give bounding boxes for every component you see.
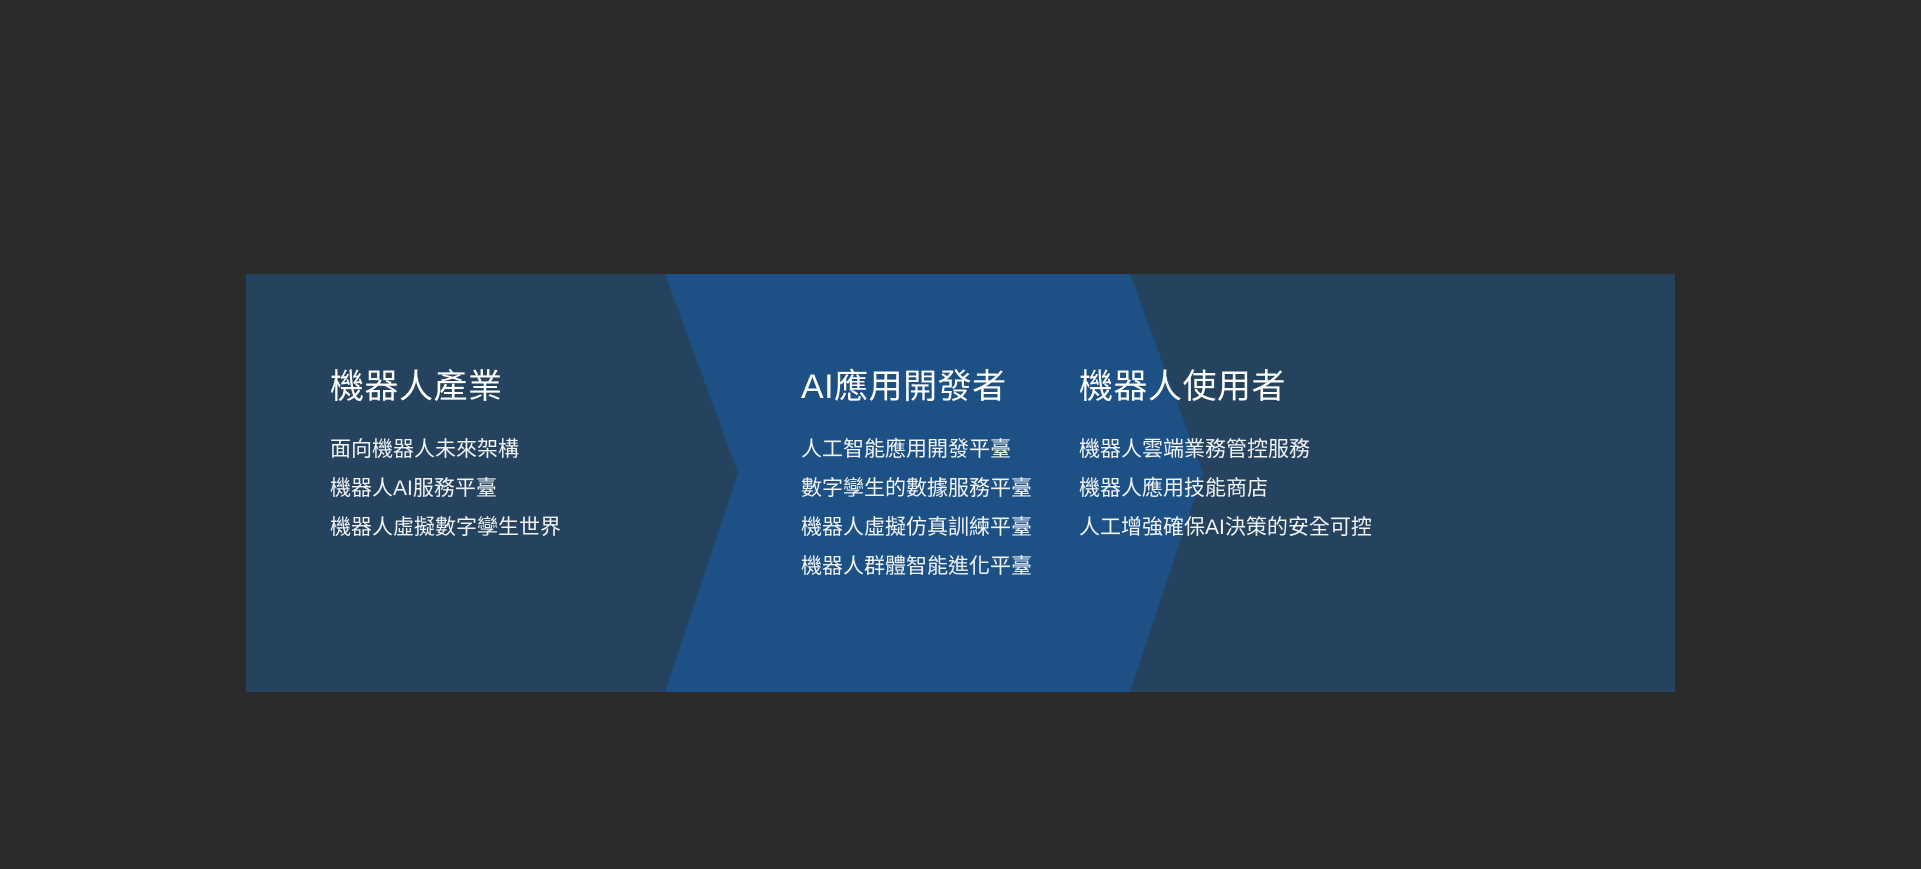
- list-item: 機器人虛擬仿真訓練平臺: [801, 512, 1032, 544]
- list-item: 數字孿生的數據服務平臺: [801, 473, 1032, 505]
- column-item-list: 面向機器人未來架構 機器人AI服務平臺 機器人虛擬數字孿生世界: [330, 434, 561, 544]
- list-item: 機器人AI服務平臺: [330, 473, 561, 505]
- column-group: 機器人產業 面向機器人未來架構 機器人AI服務平臺 機器人虛擬數字孿生世界 AI…: [246, 274, 1675, 692]
- list-item: 面向機器人未來架構: [330, 434, 561, 466]
- list-item: 機器人雲端業務管控服務: [1079, 434, 1372, 466]
- column-heading: 機器人使用者: [1079, 370, 1286, 404]
- list-item: 機器人應用技能商店: [1079, 473, 1372, 505]
- list-item: 人工增強確保AI決策的安全可控: [1079, 512, 1372, 544]
- column-heading: AI應用開發者: [801, 370, 1007, 404]
- column-item-list: 人工智能應用開發平臺 數字孿生的數據服務平臺 機器人虛擬仿真訓練平臺 機器人群體…: [801, 434, 1032, 583]
- column-robot-user: 機器人使用者 機器人雲端業務管控服務 機器人應用技能商店 人工增強確保AI決策的…: [1079, 274, 1459, 692]
- column-heading: 機器人產業: [330, 370, 503, 404]
- column-robot-industry: 機器人產業 面向機器人未來架構 機器人AI服務平臺 機器人虛擬數字孿生世界: [330, 274, 660, 692]
- list-item: 機器人虛擬數字孿生世界: [330, 512, 561, 544]
- column-item-list: 機器人雲端業務管控服務 機器人應用技能商店 人工增強確保AI決策的安全可控: [1079, 434, 1372, 544]
- chevron-banner: 機器人產業 面向機器人未來架構 機器人AI服務平臺 機器人虛擬數字孿生世界 AI…: [246, 274, 1675, 692]
- list-item: 機器人群體智能進化平臺: [801, 551, 1032, 583]
- list-item: 人工智能應用開發平臺: [801, 434, 1032, 466]
